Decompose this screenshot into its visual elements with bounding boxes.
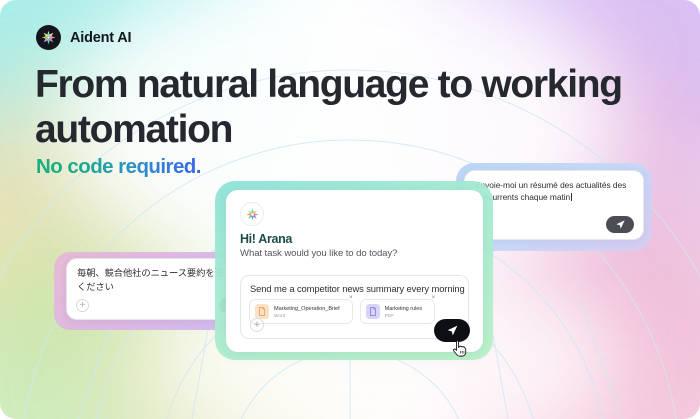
attachment-chip[interactable]: Marketing rules PDF ×: [360, 299, 436, 324]
attachment-name: Marketing_Operation_Brief: [274, 306, 340, 312]
asterisk-star-icon: [245, 207, 260, 222]
prompt-text: What task would you like to do today?: [240, 248, 397, 259]
message-input-value: Send me a competitor news summary every …: [250, 283, 465, 294]
close-icon[interactable]: ×: [349, 295, 353, 301]
pointing-hand-cursor: [452, 339, 468, 359]
message-input[interactable]: Send me a competitor news summary every …: [240, 275, 469, 339]
greeting-text: Hi! Arana: [240, 232, 292, 246]
french-message: Envoie-moi un résumé des actualités des …: [475, 179, 638, 203]
text-caret: [571, 193, 572, 201]
avatar: [240, 202, 264, 226]
brand-header[interactable]: Aident AI: [36, 25, 131, 50]
close-icon[interactable]: ×: [432, 295, 436, 301]
brand-name: Aident AI: [70, 30, 131, 46]
headline-line-1: From natural language to working: [35, 63, 622, 106]
attachment-type: Word: [274, 313, 340, 318]
french-message-text: Envoie-moi un résumé des actualités des …: [475, 180, 626, 202]
attachment-chip[interactable]: Marketing_Operation_Brief Word ×: [249, 299, 353, 324]
headline-line-2: automation: [35, 108, 232, 151]
attachment-meta: Marketing rules PDF: [385, 306, 423, 318]
hero-canvas: Aident AI From natural language to worki…: [0, 0, 700, 419]
document-icon: [366, 304, 380, 319]
document-icon: [255, 304, 269, 319]
page-subtitle: No code required.: [36, 155, 201, 179]
plus-icon[interactable]: +: [76, 299, 89, 312]
attachment-meta: Marketing_Operation_Brief Word: [274, 306, 340, 318]
asterisk-star-icon: [36, 25, 61, 50]
chat-card-main[interactable]: Hi! Arana What task would you like to do…: [226, 190, 483, 352]
page-title: From natural language to working automat…: [35, 62, 655, 152]
plus-icon[interactable]: +: [250, 318, 264, 332]
attachment-type: PDF: [385, 313, 423, 318]
attachment-name: Marketing rules: [385, 306, 423, 312]
attachment-list: Marketing_Operation_Brief Word × Marketi…: [249, 299, 435, 324]
send-paper-plane-icon[interactable]: [606, 216, 634, 233]
